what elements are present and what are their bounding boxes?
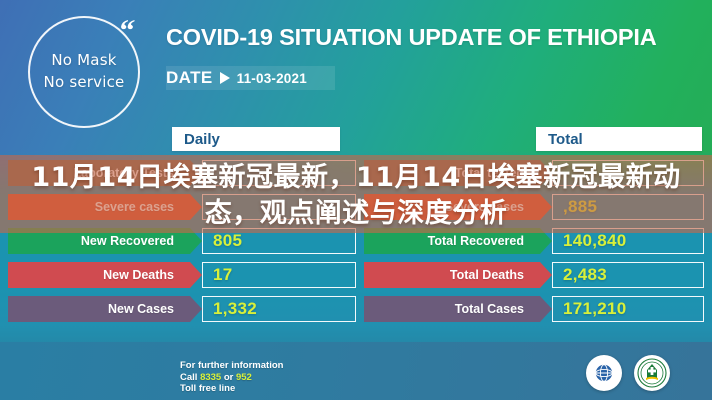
badge-line-1: No Mask: [51, 50, 116, 72]
stat-row: Total Cases171,210: [364, 296, 704, 322]
date-line: DATE 11-03-2021: [166, 66, 335, 90]
footer-call-line: Call 8335 or 952: [180, 372, 283, 384]
logo-group: [586, 355, 670, 391]
stat-row-value-box: 2,483: [552, 262, 704, 288]
date-value: 11-03-2021: [237, 71, 307, 86]
badge-line-2: No service: [44, 72, 125, 94]
stat-row-label: Total Deaths: [364, 262, 540, 288]
stat-row-value-box: 17: [202, 262, 356, 288]
footer-line-3: Toll free line: [180, 383, 283, 395]
call-or: or: [221, 372, 236, 383]
page-title: COVID-19 SITUATION UPDATE OF ETHIOPIA: [166, 24, 702, 51]
hotline-number-1: 8335: [200, 372, 221, 383]
stat-row-value-box: 171,210: [552, 296, 704, 322]
stat-row: New Cases1,332: [8, 296, 356, 322]
ethiopia-ministry-of-health-logo: [634, 355, 670, 391]
stat-row-value: 140,840: [563, 231, 627, 251]
stat-row-label: New Cases: [8, 296, 190, 322]
stat-row-label: Total Cases: [364, 296, 540, 322]
no-mask-no-service-badge: “ No Mask No service: [28, 16, 140, 128]
footer-contact-info: For further information Call 8335 or 952…: [180, 360, 283, 395]
who-logo: [586, 355, 622, 391]
triangle-right-icon: [220, 72, 230, 84]
column-header-daily: Daily: [172, 127, 340, 151]
stat-row-value: 171,210: [563, 299, 627, 319]
stat-row-value: 17: [213, 265, 233, 285]
overlay-headline: 11月14日埃塞新冠最新，11月14日埃塞新冠最新动态，观点阐述与深度分析: [0, 160, 712, 232]
hotline-number-2: 952: [236, 372, 252, 383]
call-prefix: Call: [180, 372, 200, 383]
stat-row-value-box: 1,332: [202, 296, 356, 322]
stat-row-value: 2,483: [563, 265, 607, 285]
date-label: DATE: [166, 68, 213, 88]
column-header-total: Total: [536, 127, 702, 151]
stat-row-value: 805: [213, 231, 242, 251]
stat-row-value: 1,332: [213, 299, 257, 319]
stat-row-label: New Deaths: [8, 262, 190, 288]
stat-row: New Deaths17: [8, 262, 356, 288]
stat-row: Total Deaths2,483: [364, 262, 704, 288]
footer-line-1: For further information: [180, 360, 283, 372]
